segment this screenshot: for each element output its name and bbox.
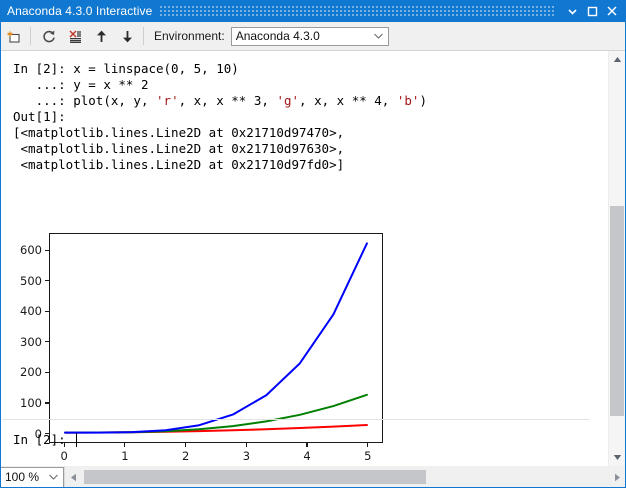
x-axis-tick-mark [185,443,186,447]
console-line: In [2]: x = linspace(0, 5, 10) [13,61,427,77]
triangle-down-icon[interactable] [609,449,625,466]
y-axis-tick-mark [45,311,49,312]
console-line: <matplotlib.lines.Line2D at 0x21710d97fd… [13,157,427,173]
prompt-divider [2,419,590,420]
x-axis-tick-label: 0 [61,449,68,463]
zoom-level-value: 100 % [0,470,39,484]
console-input-prompt: In [2]: [13,432,73,448]
x-axis-tick-mark [367,443,368,447]
x-axis-tick-mark [306,443,307,447]
y-axis-tick-mark [45,250,49,251]
window-title: Anaconda 4.3.0 Interactive [0,4,152,18]
console-code-text: Out[1]: [13,109,66,124]
console-line: ...: y = x ** 2 [13,77,427,93]
new-cell-button[interactable] [2,24,26,48]
y-axis-tick-mark [45,372,49,373]
y-axis-tick-label: 100 [20,396,42,410]
y-axis-tick-mark [45,341,49,342]
environment-dropdown[interactable]: Anaconda 4.3.0 [231,27,389,46]
matplotlib-figure: 0100200300400500600012345 [13,231,385,461]
console-code-text: <matplotlib.lines.Line2D at 0x21710d9763… [13,141,344,156]
close-icon[interactable] [602,1,622,21]
console-string-literal: 'r' [156,93,179,108]
chevron-down-icon [374,28,383,45]
title-bar[interactable]: Anaconda 4.3.0 Interactive [0,0,626,22]
vertical-scrollbar[interactable] [608,51,625,466]
horizontal-scrollbar[interactable] [64,466,626,488]
x-axis-tick-mark [124,443,125,447]
console-string-literal: 'b' [397,93,420,108]
console-string-literal: 'g' [276,93,299,108]
y-axis-tick-label: 200 [20,365,42,379]
horizontal-scrollbar-track[interactable] [82,467,609,487]
chevron-down-icon [49,468,58,487]
environment-dropdown-value: Anaconda 4.3.0 [232,29,320,43]
reset-button[interactable] [37,24,61,48]
console-code-text: , x, x ** 3, [179,93,277,108]
plot-curves [50,234,382,442]
vertical-scrollbar-thumb[interactable] [610,206,624,416]
console-input-line[interactable]: In [2]: [13,432,77,448]
x-axis-tick-mark [246,443,247,447]
console-line: Out[1]: [13,109,427,125]
y-axis-tick-label: 500 [20,274,42,288]
plot-line-b [65,243,367,432]
anaconda-interactive-window: Anaconda 4.3.0 Interactive [0,0,626,488]
console-line: <matplotlib.lines.Line2D at 0x21710d9763… [13,141,427,157]
chevron-down-icon[interactable] [562,1,582,21]
maximize-icon[interactable] [582,1,602,21]
console-code-text: , x, x ** 4, [299,93,397,108]
environment-label: Environment: [154,29,225,43]
zoom-dropdown[interactable]: 100 % [0,467,64,488]
console-line-prompt: ...: [13,77,73,92]
x-axis-tick-label: 5 [364,449,371,463]
x-axis-tick-label: 4 [303,449,310,463]
console-line: [<matplotlib.lines.Line2D at 0x21710d974… [13,125,427,141]
y-axis-tick-label: 600 [20,243,42,257]
triangle-right-icon[interactable] [609,467,626,487]
toolbar-separator [30,27,31,45]
clear-button[interactable] [63,24,87,48]
console-line: ...: plot(x, y, 'r', x, x ** 3, 'g', x, … [13,93,427,109]
text-caret [76,433,77,447]
triangle-left-icon[interactable] [65,467,82,487]
x-axis-tick-label: 3 [243,449,250,463]
toolbar-separator-2 [143,27,144,45]
console-code-text: x = linspace(0, 5, 10) [73,61,239,76]
title-bar-grip [160,5,554,17]
console-code-text: plot(x, y, [73,93,156,108]
console-line-prompt: In [2]: [13,61,73,76]
console-content[interactable]: In [2]: x = linspace(0, 5, 10) ...: y = … [1,51,608,466]
window-controls [562,0,622,22]
console-code-text: [<matplotlib.lines.Line2D at 0x21710d974… [13,125,344,140]
y-axis-tick-label: 300 [20,335,42,349]
y-axis-tick-mark [45,280,49,281]
console-code-text: y = x ** 2 [73,77,148,92]
status-bar: 100 % [0,466,626,488]
y-axis-tick-label: 400 [20,304,42,318]
console-line-prompt: ...: [13,93,73,108]
console-code-text: <matplotlib.lines.Line2D at 0x21710d97fd… [13,157,344,172]
toolbar: Environment: Anaconda 4.3.0 [0,22,626,51]
y-axis-tick-mark [45,402,49,403]
console-code-text: ) [419,93,427,108]
history-down-button[interactable] [115,24,139,48]
x-axis-tick-label: 1 [121,449,128,463]
plot-axes [49,233,383,443]
history-up-button[interactable] [89,24,113,48]
console-output: In [2]: x = linspace(0, 5, 10) ...: y = … [13,61,427,173]
triangle-up-icon[interactable] [609,51,625,68]
horizontal-scrollbar-thumb[interactable] [84,470,426,484]
x-axis-tick-label: 2 [182,449,189,463]
console-panel: In [2]: x = linspace(0, 5, 10) ...: y = … [0,51,626,466]
